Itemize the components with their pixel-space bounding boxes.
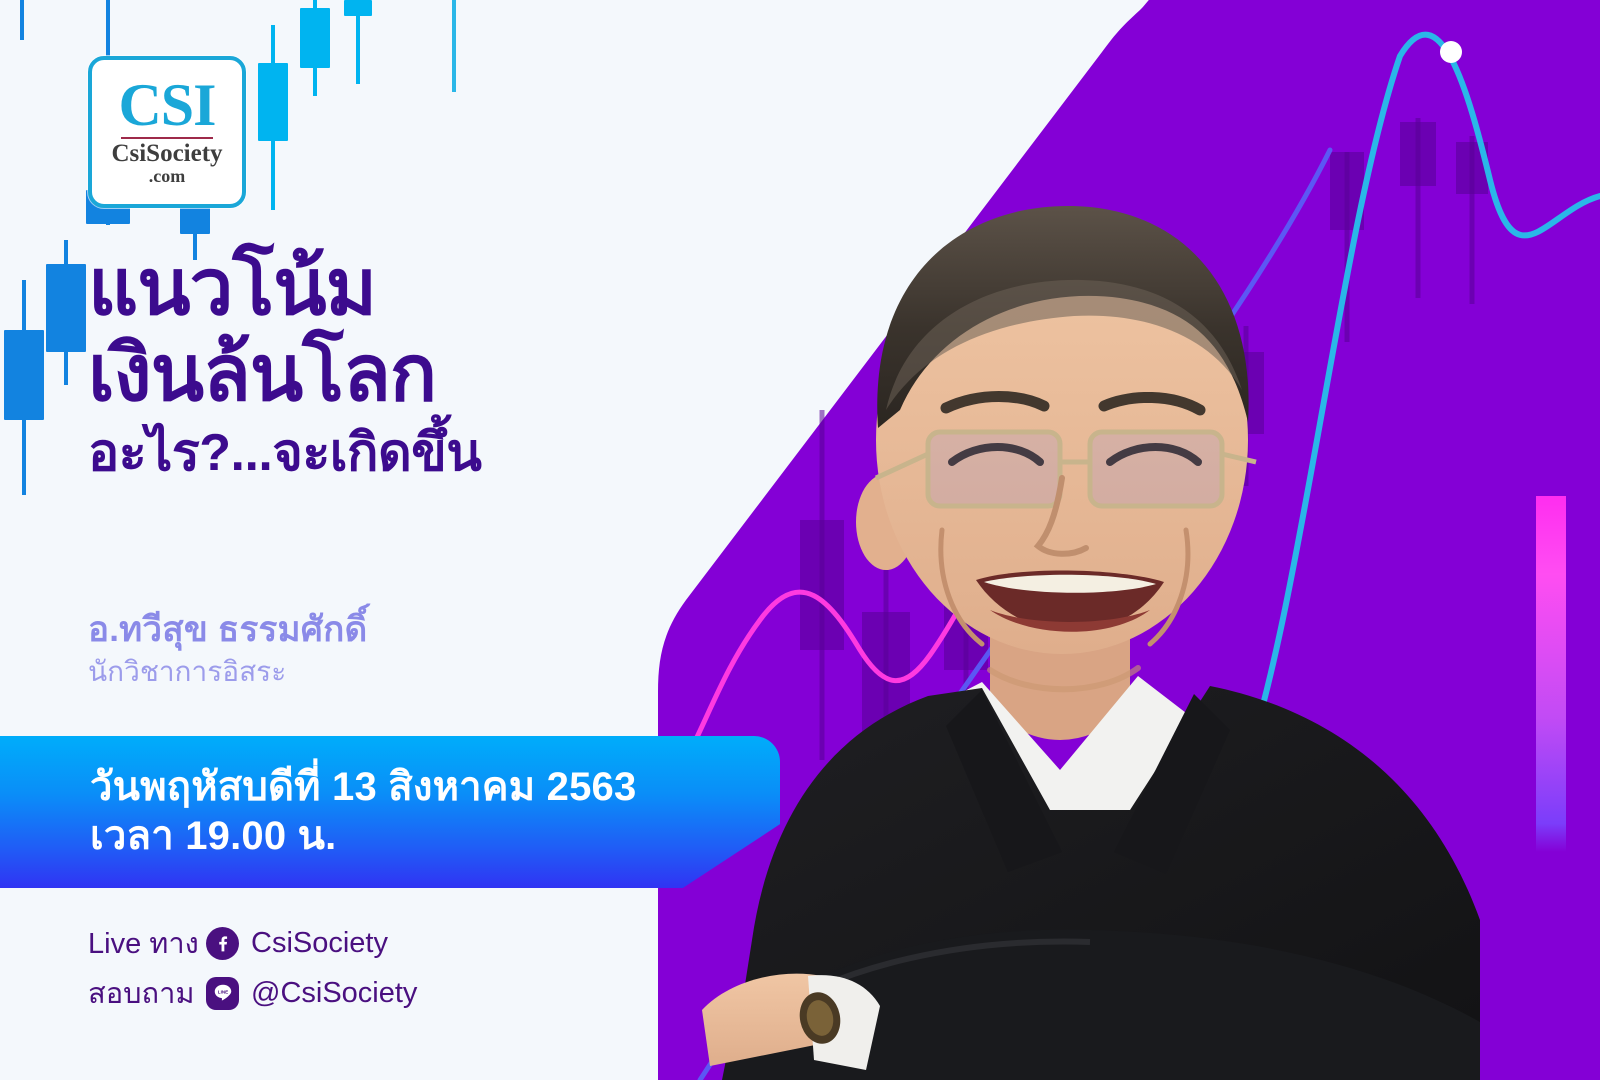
logo-tld-text: .com bbox=[149, 167, 185, 187]
social-block: Live ทาง CsiSociety สอบถาม LINE @CsiSoci… bbox=[88, 918, 417, 1018]
speaker-role: นักวิชาการอิสระ bbox=[88, 654, 367, 690]
candlestick-blue bbox=[2, 0, 42, 40]
social-label-live: Live ทาง bbox=[88, 920, 206, 966]
event-date-text: วันพฤหัสบดีที่ 13 สิงหาคม 2563 bbox=[90, 763, 780, 812]
candlestick-blue bbox=[440, 0, 468, 92]
logo-name-text: CsiSociety bbox=[111, 141, 222, 167]
logo-divider bbox=[121, 137, 213, 139]
poster-canvas: CSI CsiSociety .com แนวโน้ม เงินล้นโลก อ… bbox=[0, 0, 1600, 1080]
social-handle-facebook[interactable]: CsiSociety bbox=[251, 927, 388, 960]
line-icon[interactable]: LINE bbox=[206, 977, 239, 1010]
facebook-icon[interactable] bbox=[206, 927, 239, 960]
headline-subline: อะไร?...จะเกิดขึ้น bbox=[88, 426, 648, 481]
headline-block: แนวโน้ม เงินล้นโลก อะไร?...จะเกิดขึ้น bbox=[88, 252, 648, 480]
speaker-name: อ.ทวีสุข ธรรมศักดิ์ bbox=[88, 608, 367, 652]
headline-line-2: เงินล้นโลก bbox=[88, 338, 648, 410]
headline-line-1: แนวโน้ม bbox=[88, 252, 648, 324]
csi-logo[interactable]: CSI CsiSociety .com bbox=[88, 56, 246, 208]
event-date-banner: วันพฤหัสบดีที่ 13 สิงหาคม 2563 เวลา 19.0… bbox=[0, 736, 780, 888]
candlestick-blue bbox=[300, 0, 330, 96]
event-time-text: เวลา 19.00 น. bbox=[90, 812, 780, 861]
candlestick-blue bbox=[4, 280, 44, 495]
social-handle-line[interactable]: @CsiSociety bbox=[251, 977, 417, 1010]
social-row-facebook[interactable]: Live ทาง CsiSociety bbox=[88, 918, 417, 968]
social-label-contact: สอบถาม bbox=[88, 970, 206, 1016]
candlestick-blue bbox=[46, 240, 86, 385]
speaker-portrait bbox=[690, 110, 1480, 1080]
candlestick-blue bbox=[258, 25, 288, 210]
speaker-block: อ.ทวีสุข ธรรมศักดิ์ นักวิชาการอิสระ bbox=[88, 608, 367, 690]
social-row-line[interactable]: สอบถาม LINE @CsiSociety bbox=[88, 968, 417, 1018]
pink-accent-bar bbox=[1536, 496, 1566, 852]
candlestick-blue bbox=[344, 0, 372, 84]
svg-text:LINE: LINE bbox=[217, 989, 227, 994]
logo-csi-text: CSI bbox=[118, 77, 215, 134]
